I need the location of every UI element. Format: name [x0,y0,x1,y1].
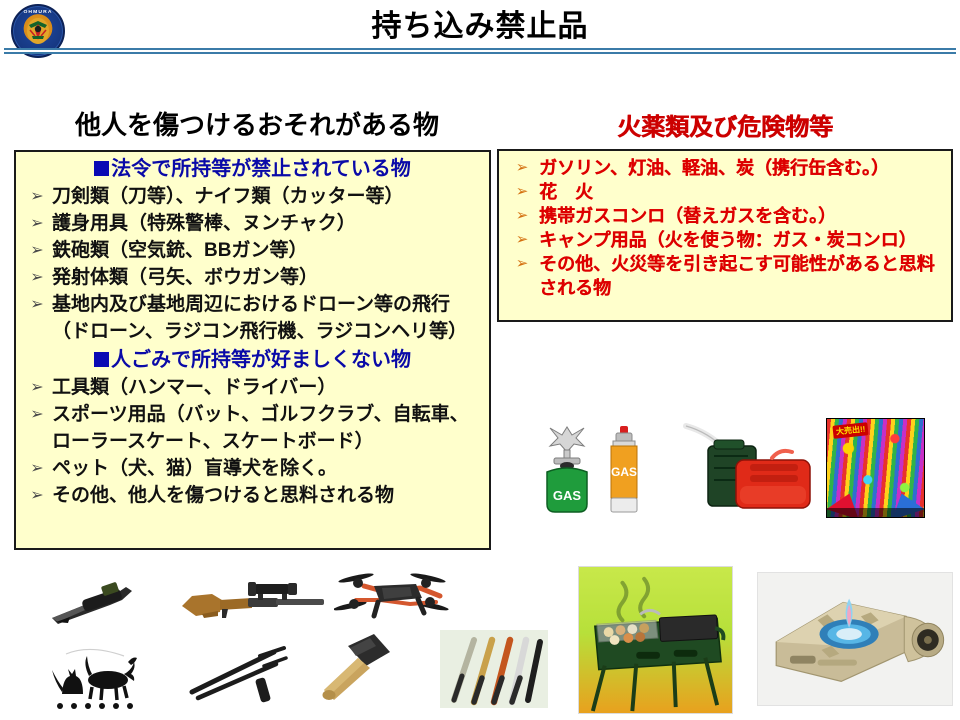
portable-gas-burner-photo [757,572,953,706]
list-item: ➢ 鉄砲類（空気銃、BBガン等） [22,237,483,264]
list-item-label: 基地内及び基地周辺におけるドローン等の飛行（ドローン、ラジコン飛行機、ラジコンヘ… [52,291,483,345]
arrow-bullet-icon: ➢ [505,180,539,204]
list-item-label: 花 火 [539,180,945,204]
arrow-bullet-icon: ➢ [22,264,52,291]
right-list: ➢ ガソリン、灯油、軽油、炭（携行缶含む。） ➢ 花 火 ➢ 携帯ガスコンロ（替… [505,156,945,300]
list-item-label: 携帯ガスコンロ（替えガスを含む。） [539,204,945,228]
arrow-bullet-icon: ➢ [22,482,52,509]
arrow-bullet-icon: ➢ [505,156,539,180]
list-item: ➢ 護身用具（特殊警棒、ヌンチャク） [22,210,483,237]
list-item-label: 刀剣類（刀等）、ナイフ類（カッター等） [52,183,483,210]
gas-canister-stove-photo: GAS [534,424,600,516]
tonfa-baton-photo [188,644,298,704]
list-item-label: 発射体類（弓矢、ボウガン等） [52,264,483,291]
fireworks-footer-strip [827,508,924,517]
left-section-1-heading: 法令で所持等が禁止されている物 [22,156,483,182]
square-bullet-icon [94,352,109,367]
list-item: ➢ 花 火 [505,180,945,204]
list-item: ➢ キャンプ用品（火を使う物：ガス・炭コンロ） [505,228,945,252]
list-item-label: ペット（犬、猫）盲導犬を除く。 [52,455,483,482]
left-section-1-heading-text: 法令で所持等が禁止されている物 [111,158,410,180]
list-item: ➢ 工具類（ハンマー、ドライバー） [22,374,483,401]
arrow-bullet-icon: ➢ [22,374,52,401]
arrow-bullet-icon: ➢ [505,252,539,276]
left-section-2-list: ➢ 工具類（ハンマー、ドライバー） ➢ スポーツ用品（バット、ゴルフクラブ、自転… [22,374,483,509]
right-column-heading: 火薬類及び危険物等 [495,107,955,142]
list-item: ➢ その他、他人を傷つけると思料される物 [22,482,483,509]
drone-photo [334,566,452,628]
arrow-bullet-icon: ➢ [505,228,539,252]
fuel-jerry-cans-photo [680,420,815,516]
square-bullet-icon [94,161,109,176]
gas-cartridge-photo: GAS [604,424,644,516]
list-item: ➢ 刀剣類（刀等）、ナイフ類（カッター等） [22,183,483,210]
list-item-label: その他、火災等を引き起こす可能性があると思料される物 [539,252,945,300]
sledgehammer-photo [318,628,414,706]
left-column-heading: 他人を傷つけるおそれがある物 [22,105,492,142]
list-item-label: キャンプ用品（火を使う物：ガス・炭コンロ） [539,228,945,252]
left-section-2-heading-text: 人ごみで所持等が好ましくない物 [111,349,411,371]
list-item: ➢ その他、火災等を引き起こす可能性があると思料される物 [505,252,945,300]
list-item: ➢ スポーツ用品（バット、ゴルフクラブ、自転車、ローラースケート、スケートボード… [22,401,483,455]
list-item: ➢ 基地内及び基地周辺におけるドローン等の飛行（ドローン、ラジコン飛行機、ラジコ… [22,291,483,345]
slide-header: OHMURA ALL-STATIONS 持ち込み禁止品 [0,0,960,58]
arrow-bullet-icon: ➢ [22,401,52,428]
left-section-1-list: ➢ 刀剣類（刀等）、ナイフ類（カッター等） ➢ 護身用具（特殊警棒、ヌンチャク）… [22,183,483,345]
pet-dog-cat-sign-photo [42,640,150,712]
air-rifle-photo [178,578,328,626]
bbq-charcoal-grill-photo [578,566,733,714]
left-section-2-heading: 人ごみで所持等が好ましくない物 [22,347,483,373]
arrow-bullet-icon: ➢ [22,455,52,482]
list-item: ➢ ペット（犬、猫）盲導犬を除く。 [22,455,483,482]
arrow-bullet-icon: ➢ [505,204,539,228]
arrow-bullet-icon: ➢ [22,291,52,318]
header-divider [4,48,956,55]
combat-knife-photo [40,578,140,630]
fireworks-banner-label: 大売出!! [832,422,868,439]
list-item-label: 護身用具（特殊警棒、ヌンチャク） [52,210,483,237]
gas-cartridge-label: GAS [611,465,637,479]
list-item-label: その他、他人を傷つけると思料される物 [52,482,483,509]
gas-stove-label: GAS [553,488,582,503]
hazardous-items-right-box: ➢ ガソリン、灯油、軽油、炭（携行缶含む。） ➢ 花 火 ➢ 携帯ガスコンロ（替… [497,149,953,322]
baseball-bats-photo [440,630,548,708]
list-item: ➢ 携帯ガスコンロ（替えガスを含む。） [505,204,945,228]
list-item-label: ガソリン、灯油、軽油、炭（携行缶含む。） [539,156,945,180]
arrow-bullet-icon: ➢ [22,183,52,210]
list-item-label: スポーツ用品（バット、ゴルフクラブ、自転車、ローラースケート、スケートボード） [52,401,483,455]
list-item-label: 鉄砲類（空気銃、BBガン等） [52,237,483,264]
list-item: ➢ ガソリン、灯油、軽油、炭（携行缶含む。） [505,156,945,180]
arrow-bullet-icon: ➢ [22,210,52,237]
fireworks-package-photo: 大売出!! [826,418,925,518]
arrow-bullet-icon: ➢ [22,237,52,264]
prohibited-items-left-box: 法令で所持等が禁止されている物 ➢ 刀剣類（刀等）、ナイフ類（カッター等） ➢ … [14,150,491,550]
list-item-label: 工具類（ハンマー、ドライバー） [52,374,483,401]
list-item: ➢ 発射体類（弓矢、ボウガン等） [22,264,483,291]
page-title: 持ち込み禁止品 [0,8,960,46]
